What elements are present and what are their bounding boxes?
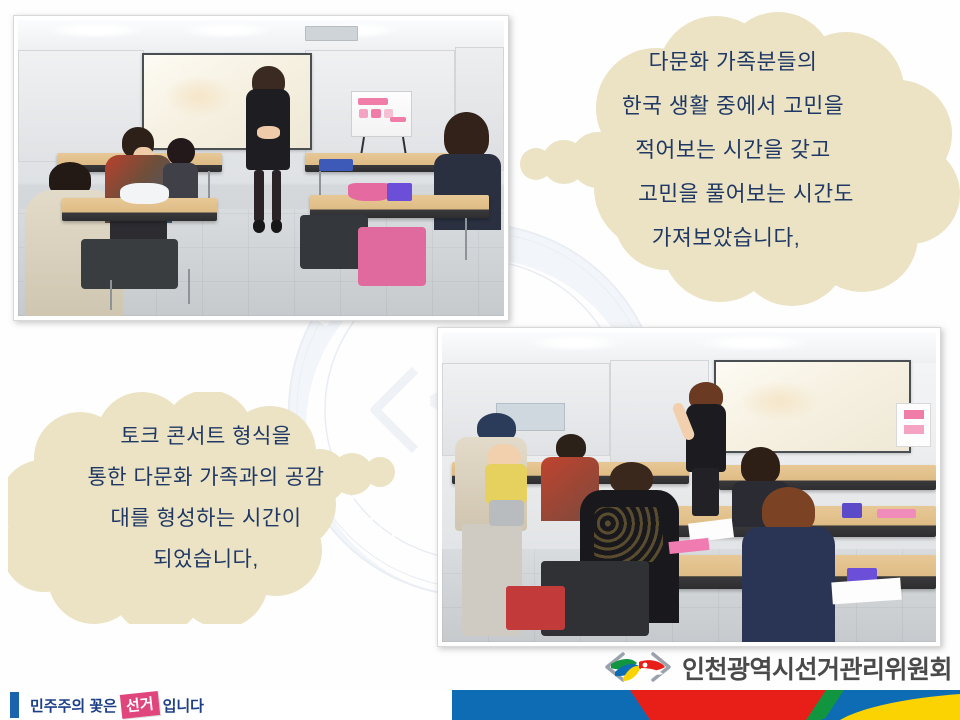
speech-cloud-top: 다문화 가족분들의 한국 생활 중에서 고민을 적어보는 시간을 갖고 고민을 … bbox=[506, 12, 960, 308]
incheon-election-commission-mark-icon bbox=[601, 650, 675, 690]
slide-canvas: ECTION COM 광역시 bbox=[0, 0, 960, 720]
slogan-part-1: 민주주의 꽃은 bbox=[30, 695, 117, 716]
cloud-top-line-2: 한국 생활 중에서 고민을 bbox=[540, 84, 926, 128]
slogan-part-2: 입니다 bbox=[163, 695, 204, 716]
logo-text: 인천광역시선거관리위원회 bbox=[682, 658, 952, 683]
cloud-bottom-line-4: 되었습니다, bbox=[34, 539, 378, 580]
speech-cloud-bottom: 토크 콘서트 형식을 통한 다문화 가족과의 공감 대를 형성하는 시간이 되었… bbox=[8, 392, 408, 624]
photo-classroom-presenter bbox=[13, 15, 509, 321]
slogan-badge: 선거 bbox=[120, 691, 160, 719]
cloud-bottom-text: 토크 콘서트 형식을 통한 다문화 가족과의 공감 대를 형성하는 시간이 되었… bbox=[8, 392, 408, 580]
cloud-bottom-line-2: 통한 다문화 가족과의 공감 bbox=[34, 457, 378, 498]
logo-row: 인천광역시선거관리위원회 bbox=[601, 650, 952, 690]
photo-classroom-audience bbox=[437, 327, 941, 647]
cloud-top-text: 다문화 가족분들의 한국 생활 중에서 고민을 적어보는 시간을 갖고 고민을 … bbox=[506, 12, 960, 260]
cloud-bottom-line-3: 대를 형성하는 시간이 bbox=[34, 498, 378, 539]
cloud-top-line-1: 다문화 가족분들의 bbox=[540, 40, 926, 84]
cloud-bottom-line-1: 토크 콘서트 형식을 bbox=[34, 416, 378, 457]
footer-slogan: 민주주의 꽃은 선거 입니다 bbox=[30, 693, 204, 717]
cloud-top-line-3: 적어보는 시간을 갖고 bbox=[540, 128, 926, 172]
slogan-accent-bar bbox=[10, 692, 19, 718]
footer-bar: 민주주의 꽃은 선거 입니다 bbox=[0, 690, 960, 720]
footer-slogan-box: 민주주의 꽃은 선거 입니다 bbox=[0, 690, 452, 720]
cloud-top-line-4: 고민을 풀어보는 시간도 bbox=[540, 172, 926, 216]
cloud-top-line-5: 가져보았습니다, bbox=[540, 216, 926, 260]
